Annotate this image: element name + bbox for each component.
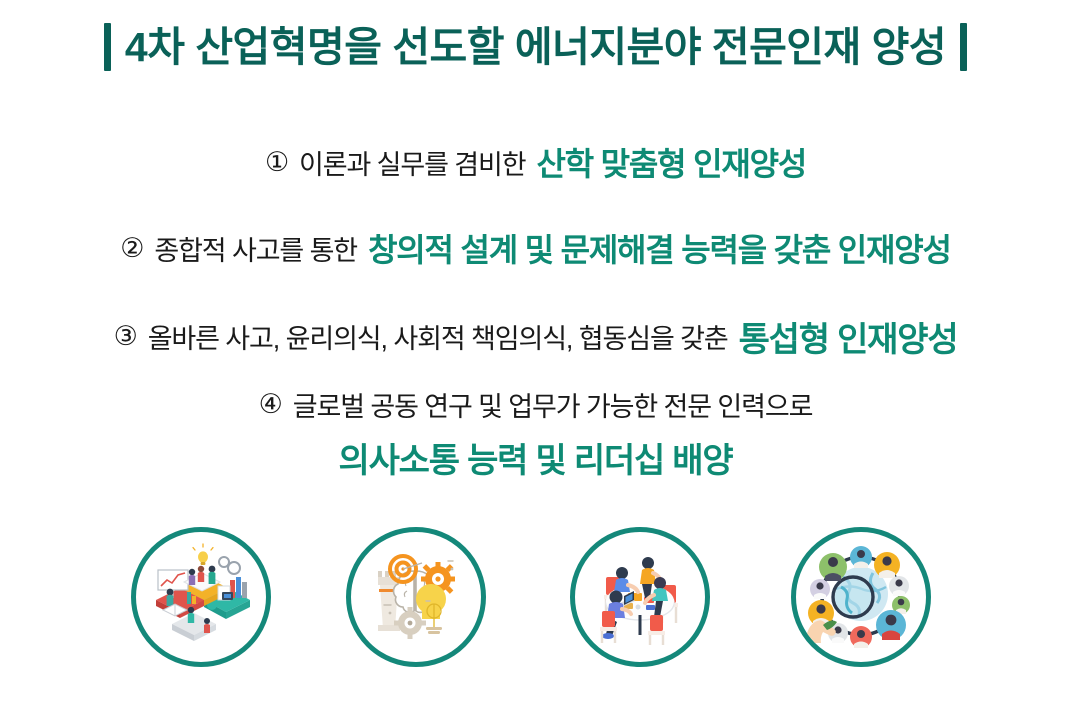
icon-row (0, 527, 1071, 677)
industry-academia-workspace-icon (131, 527, 271, 667)
bullet-plain-2: 종합적 사고를 통한 (154, 229, 357, 268)
slide-root: 4차 산업혁명을 선도할 에너지분야 전문인재 양성 ① 이론과 실무를 겸비한… (0, 0, 1071, 705)
bullet-plain-4: 글로벌 공동 연구 및 업무가 가능한 전문 인력으로 (293, 385, 813, 424)
bullet-marker-4: ④ (259, 389, 282, 420)
bullet-list: ① 이론과 실무를 겸비한 산학 맞춤형 인재양성 ② 종합적 사고를 통한 창… (0, 120, 1071, 486)
bullet-plain-3: 올바른 사고, 윤리의식, 사회적 책임의식, 협동심을 갖춘 (148, 317, 728, 356)
bullet-item-4-accent-row: 의사소통 능력 및 리더십 배양 (0, 428, 1071, 486)
bullet-item-2: ② 종합적 사고를 통한 창의적 설계 및 문제해결 능력을 갖춘 인재양성 (0, 204, 1071, 292)
title-left-bar (104, 23, 111, 71)
bullet-accent-3: 통섭형 인재양성 (739, 312, 958, 361)
title-right-bar (960, 23, 967, 71)
bullet-accent-1: 산학 맞춤형 인재양성 (537, 139, 807, 185)
global-network-people-icon (791, 527, 931, 667)
bullet-plain-1: 이론과 실무를 겸비한 (299, 143, 525, 182)
bullet-accent-4: 의사소통 능력 및 리더십 배양 (339, 433, 733, 482)
bullet-item-3: ③ 올바른 사고, 윤리의식, 사회적 책임의식, 협동심을 갖춘 통섭형 인재… (0, 292, 1071, 380)
brain-gears-idea-icon (346, 527, 486, 667)
bullet-item-1: ① 이론과 실무를 겸비한 산학 맞춤형 인재양성 (0, 120, 1071, 204)
bullet-marker-2: ② (120, 233, 143, 264)
bullet-marker-3: ③ (114, 321, 137, 352)
bullet-item-4: ④ 글로벌 공동 연구 및 업무가 가능한 전문 인력으로 (0, 380, 1071, 428)
title-text: 4차 산업혁명을 선도할 에너지분야 전문인재 양성 (125, 27, 946, 68)
bullet-marker-1: ① (265, 147, 288, 178)
page-title: 4차 산업혁명을 선도할 에너지분야 전문인재 양성 (0, 12, 1071, 82)
bullet-accent-2: 창의적 설계 및 문제해결 능력을 갖춘 인재양성 (368, 225, 951, 271)
team-meeting-table-icon (570, 527, 710, 667)
